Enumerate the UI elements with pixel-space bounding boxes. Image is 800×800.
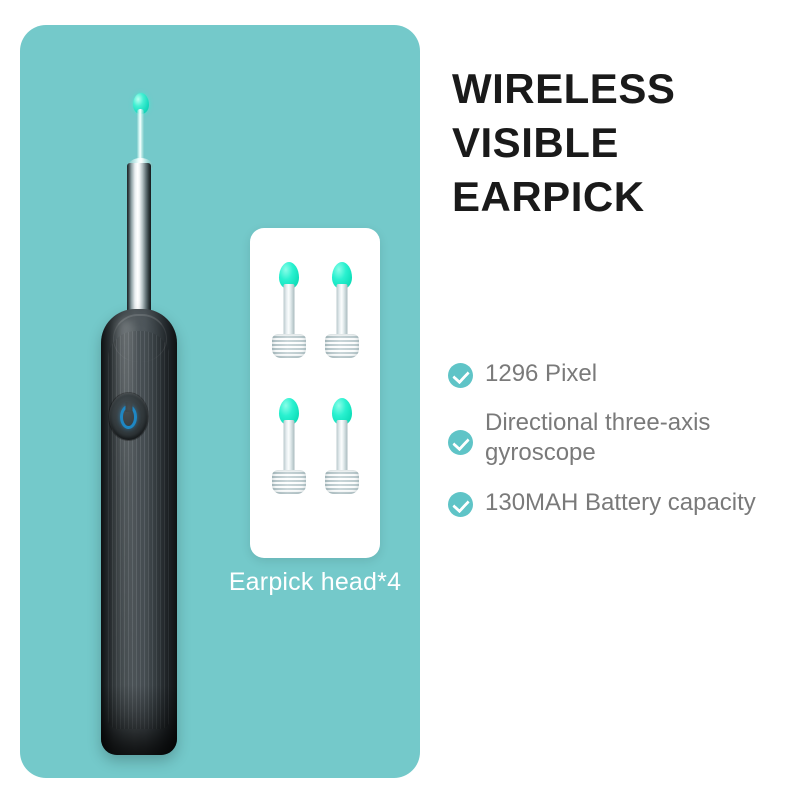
feature-label: 130MAH Battery capacity bbox=[485, 487, 756, 518]
page-title: WIRELESS VISIBLE EARPICK bbox=[452, 62, 782, 223]
headline-line-1: WIRELESS bbox=[452, 62, 782, 116]
earpick-head-item bbox=[315, 396, 368, 532]
feature-label: 1296 Pixel bbox=[485, 358, 597, 389]
power-symbol-icon bbox=[120, 405, 137, 429]
check-circle-icon bbox=[448, 430, 473, 455]
product-image-panel: Earpick head*4 bbox=[20, 25, 420, 778]
earpick-head-item bbox=[262, 396, 315, 532]
handle-icon bbox=[101, 309, 177, 755]
earpick-heads-caption: Earpick head*4 bbox=[190, 568, 440, 597]
headline-line-3: EARPICK bbox=[452, 170, 782, 224]
feature-item-battery: 130MAH Battery capacity bbox=[448, 487, 778, 518]
product-marketing-image: Earpick head*4 WIRELESS VISIBLE EARPICK … bbox=[0, 0, 800, 800]
feature-item-pixel: 1296 Pixel bbox=[448, 358, 778, 389]
earpick-head-stem bbox=[336, 420, 347, 476]
handle-bottom-shadow bbox=[101, 685, 177, 755]
earpick-head-base bbox=[325, 334, 359, 358]
earpick-head-item bbox=[262, 260, 315, 396]
earpick-heads-grid bbox=[250, 228, 380, 558]
earpick-heads-card bbox=[250, 228, 380, 558]
check-circle-icon bbox=[448, 363, 473, 388]
earpick-head-stem bbox=[336, 284, 347, 340]
earpick-head-base bbox=[325, 470, 359, 494]
power-button-icon[interactable] bbox=[109, 393, 148, 440]
feature-list: 1296 Pixel Directional three-axis gyrosc… bbox=[448, 358, 778, 536]
feature-label: Directional three-axis gyroscope bbox=[485, 407, 778, 468]
feature-item-gyroscope: Directional three-axis gyroscope bbox=[448, 407, 778, 468]
earpick-head-base bbox=[272, 334, 306, 358]
check-circle-icon bbox=[448, 492, 473, 517]
earpick-head-stem bbox=[283, 420, 294, 476]
handle-highlight bbox=[117, 319, 133, 719]
metal-shaft-icon bbox=[127, 163, 151, 328]
earpick-head-stem bbox=[283, 284, 294, 340]
headline-line-2: VISIBLE bbox=[452, 116, 782, 170]
earpick-head-item bbox=[315, 260, 368, 396]
earpick-device bbox=[88, 85, 208, 765]
earpick-head-base bbox=[272, 470, 306, 494]
